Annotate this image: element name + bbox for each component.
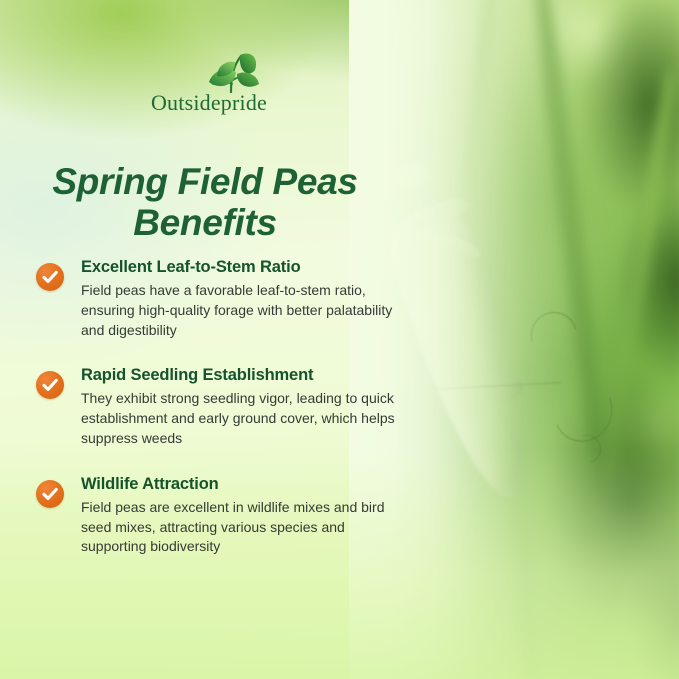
check-circle-icon — [36, 263, 64, 291]
benefit-description: They exhibit strong seedling vigor, lead… — [81, 389, 411, 449]
list-item: Rapid Seedling Establishment They exhibi… — [36, 366, 416, 448]
list-item: Excellent Leaf-to-Stem Ratio Field peas … — [36, 258, 416, 340]
benefit-title: Rapid Seedling Establishment — [81, 366, 416, 386]
brand-logo: Outsidepride — [139, 48, 279, 120]
title-line-2: Benefits — [0, 202, 410, 243]
benefit-title: Wildlife Attraction — [81, 475, 416, 495]
content-layer: Outsidepride Spring Field Peas Benefits … — [0, 0, 679, 679]
list-item: Wildlife Attraction Field peas are excel… — [36, 475, 416, 557]
benefit-title: Excellent Leaf-to-Stem Ratio — [81, 258, 416, 278]
page-title: Spring Field Peas Benefits — [0, 161, 410, 244]
plant-leaves-icon — [191, 48, 265, 96]
benefit-description: Field peas have a favorable leaf-to-stem… — [81, 281, 411, 341]
benefit-description: Field peas are excellent in wildlife mix… — [81, 498, 411, 558]
check-circle-icon — [36, 371, 64, 399]
infographic-canvas: Outsidepride Spring Field Peas Benefits … — [0, 0, 679, 679]
title-line-1: Spring Field Peas — [52, 161, 357, 202]
check-circle-icon — [36, 480, 64, 508]
benefits-list: Excellent Leaf-to-Stem Ratio Field peas … — [36, 258, 416, 583]
brand-name: Outsidepride — [139, 92, 279, 114]
